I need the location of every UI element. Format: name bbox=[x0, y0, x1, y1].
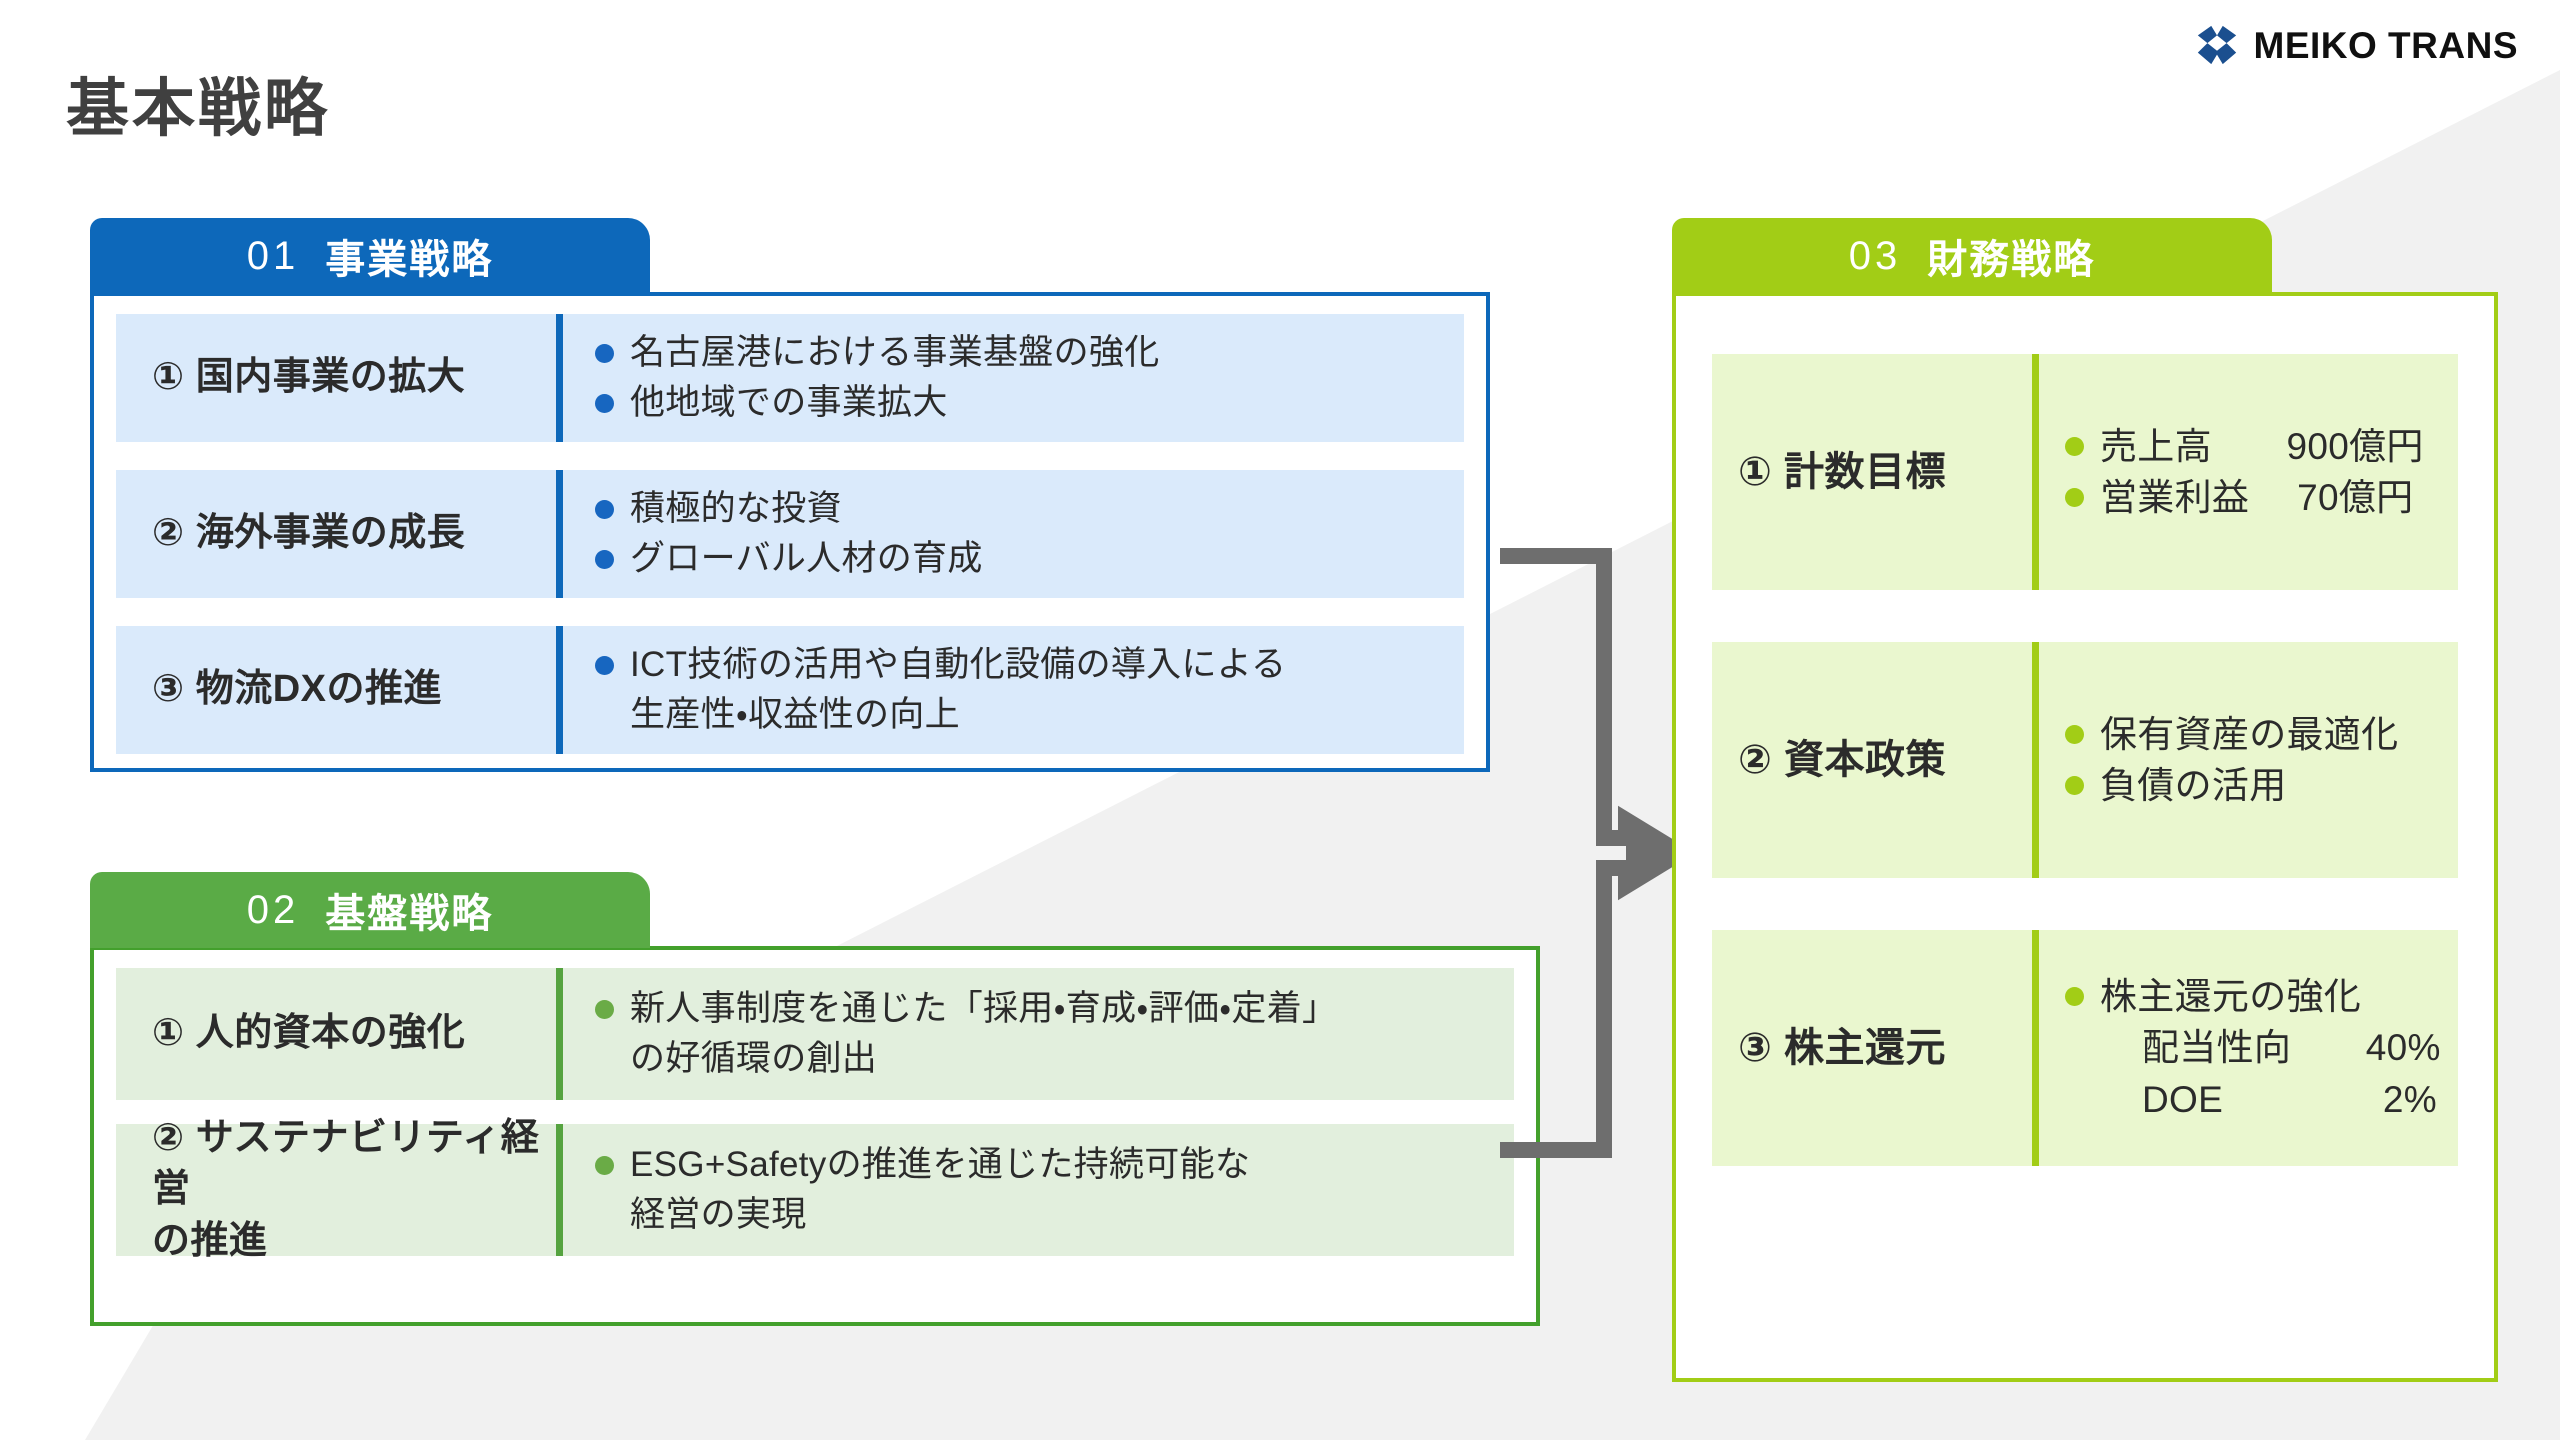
bullet-dot-icon bbox=[595, 550, 614, 569]
slide-canvas: MEIKO TRANS 基本戦略 01 事業戦略 ① 国内事業の拡大 名古屋港に… bbox=[0, 0, 2560, 1440]
panel-body-business-strategy: ① 国内事業の拡大 名古屋港における事業基盤の強化 他地域での事業拡大 bbox=[90, 292, 1490, 772]
strategy-row: ③ 株主還元 株主還元の強化 配当性向 40% D bbox=[1712, 930, 2458, 1166]
bullet-dot-icon bbox=[595, 394, 614, 413]
bullet-item: グローバル人材の育成 bbox=[595, 534, 1464, 584]
bullet-text: 積極的な投資 bbox=[630, 484, 1464, 534]
row-spacer bbox=[116, 442, 1464, 470]
strategy-row-bullets: 積極的な投資 グローバル人材の育成 bbox=[563, 470, 1464, 598]
bullet-dot-icon bbox=[595, 1156, 614, 1175]
bullet-dot-icon bbox=[2065, 987, 2084, 1006]
strategy-row-bullets: 保有資産の最適化 負債の活用 bbox=[2039, 642, 2458, 878]
panel-business-strategy: 01 事業戦略 ① 国内事業の拡大 名古屋港における事業基盤の強化 他地域で bbox=[90, 218, 1490, 772]
bullet-text: DOE 2% bbox=[2142, 1074, 2458, 1125]
row-spacer bbox=[1712, 878, 2458, 930]
strategy-row-bullets: 名古屋港における事業基盤の強化 他地域での事業拡大 bbox=[563, 314, 1464, 442]
bullet-dot-icon bbox=[595, 1000, 614, 1019]
bullet-item: 新人事制度を通じた「採用・育成・評価・定着」 の好循環の創出 bbox=[595, 984, 1514, 1083]
bullet-item: 営業利益 70億円 bbox=[2065, 472, 2458, 523]
bullet-dot-icon bbox=[2065, 725, 2084, 744]
bullet-text: 配当性向 40% bbox=[2142, 1022, 2458, 1073]
bullet-dot-icon bbox=[595, 344, 614, 363]
strategy-row: ① 計数目標 売上高 900億円 営業利益 70億円 bbox=[1712, 354, 2458, 590]
bullet-text: 他地域での事業拡大 bbox=[630, 378, 1464, 428]
strategy-row-title: ③ 物流DXの推進 bbox=[116, 626, 556, 754]
strategy-row-title: ② 資本政策 bbox=[1712, 642, 2032, 878]
strategy-to-finance-arrow bbox=[1500, 548, 1686, 1158]
row-divider bbox=[556, 1124, 563, 1256]
bullet-item: 売上高 900億円 bbox=[2065, 421, 2458, 472]
strategy-row-title: ① 計数目標 bbox=[1712, 354, 2032, 590]
bullet-dot-icon bbox=[2065, 488, 2084, 507]
row-divider bbox=[556, 314, 563, 442]
row-divider bbox=[556, 626, 563, 754]
panel-number: 01 bbox=[247, 234, 300, 279]
bullet-item: ESG+Safetyの推進を通じた持続可能な 経営の実現 bbox=[595, 1140, 1514, 1239]
row-divider bbox=[556, 968, 563, 1100]
bullet-item: DOE 2% bbox=[2065, 1074, 2458, 1125]
panel-name: 事業戦略 bbox=[325, 227, 493, 285]
row-divider bbox=[2032, 642, 2039, 878]
bullet-item: 名古屋港における事業基盤の強化 bbox=[595, 328, 1464, 378]
bullet-text: グローバル人材の育成 bbox=[630, 534, 1464, 584]
bullet-text: 売上高 900億円 bbox=[2100, 421, 2458, 472]
strategy-row-title: ② 海外事業の成長 bbox=[116, 470, 556, 598]
panel-name: 財務戦略 bbox=[1927, 227, 2095, 285]
bullet-text: 営業利益 70億円 bbox=[2100, 472, 2458, 523]
panel-header-business-strategy: 01 事業戦略 bbox=[90, 218, 650, 294]
bullet-text: 新人事制度を通じた「採用・育成・評価・定着」 の好循環の創出 bbox=[630, 984, 1514, 1083]
strategy-row-title: ① 人的資本の強化 bbox=[116, 968, 556, 1100]
row-spacer bbox=[116, 598, 1464, 626]
strategy-row-bullets: 売上高 900億円 営業利益 70億円 bbox=[2039, 354, 2458, 590]
strategy-row-bullets: ICT技術の活用や自動化設備の導入による 生産性・収益性の向上 bbox=[563, 626, 1464, 754]
panel-body-foundation-strategy: ① 人的資本の強化 新人事制度を通じた「採用・育成・評価・定着」 の好循環の創出… bbox=[90, 946, 1540, 1326]
bullet-item: 積極的な投資 bbox=[595, 484, 1464, 534]
brand-logo: MEIKO TRANS bbox=[2194, 22, 2519, 68]
bullet-text: 名古屋港における事業基盤の強化 bbox=[630, 328, 1464, 378]
panel-number: 03 bbox=[1849, 234, 1902, 279]
panel-header-financial-strategy: 03 財務戦略 bbox=[1672, 218, 2272, 294]
bullet-text: 株主還元の強化 bbox=[2100, 971, 2458, 1022]
bullet-dot-icon bbox=[595, 656, 614, 675]
bullet-dot-icon bbox=[595, 500, 614, 519]
strategy-row-title: ② サステナビリティ経営 の推進 bbox=[116, 1124, 556, 1256]
meiko-angular-mark-icon bbox=[2194, 22, 2240, 68]
bullet-text: 保有資産の最適化 bbox=[2100, 709, 2458, 760]
row-divider bbox=[556, 470, 563, 598]
strategy-row-bullets: 新人事制度を通じた「採用・育成・評価・定着」 の好循環の創出 bbox=[563, 968, 1514, 1100]
strategy-row-bullets: 株主還元の強化 配当性向 40% DOE 2% bbox=[2039, 930, 2458, 1166]
panel-name: 基盤戦略 bbox=[325, 881, 493, 939]
bullet-item: 配当性向 40% bbox=[2065, 1022, 2458, 1073]
bullet-item: 他地域での事業拡大 bbox=[595, 378, 1464, 428]
strategy-row: ① 国内事業の拡大 名古屋港における事業基盤の強化 他地域での事業拡大 bbox=[116, 314, 1464, 442]
bullet-text: 負債の活用 bbox=[2100, 760, 2458, 811]
row-divider bbox=[2032, 354, 2039, 590]
strategy-row: ① 人的資本の強化 新人事制度を通じた「採用・育成・評価・定着」 の好循環の創出 bbox=[116, 968, 1514, 1100]
panel-header-foundation-strategy: 02 基盤戦略 bbox=[90, 872, 650, 948]
logo-text: MEIKO TRANS bbox=[2254, 27, 2519, 64]
bullet-dot-icon bbox=[2065, 437, 2084, 456]
bullet-item: 保有資産の最適化 bbox=[2065, 709, 2458, 760]
row-divider bbox=[2032, 930, 2039, 1166]
strategy-row-title: ① 国内事業の拡大 bbox=[116, 314, 556, 442]
panel-foundation-strategy: 02 基盤戦略 ① 人的資本の強化 新人事制度を通じた「採用・育成・評価・定着」… bbox=[90, 872, 1540, 1326]
panel-body-financial-strategy: ① 計数目標 売上高 900億円 営業利益 70億円 bbox=[1672, 292, 2498, 1382]
strategy-row-title: ③ 株主還元 bbox=[1712, 930, 2032, 1166]
bullet-item: ICT技術の活用や自動化設備の導入による 生産性・収益性の向上 bbox=[595, 640, 1464, 739]
page-title: 基本戦略 bbox=[66, 78, 330, 141]
row-spacer bbox=[1712, 590, 2458, 642]
panel-number: 02 bbox=[247, 888, 300, 933]
bullet-dot-icon bbox=[2065, 776, 2084, 795]
strategy-row: ② 資本政策 保有資産の最適化 負債の活用 bbox=[1712, 642, 2458, 878]
bullet-text: ESG+Safetyの推進を通じた持続可能な 経営の実現 bbox=[630, 1140, 1514, 1239]
bullet-item: 負債の活用 bbox=[2065, 760, 2458, 811]
strategy-row-bullets: ESG+Safetyの推進を通じた持続可能な 経営の実現 bbox=[563, 1124, 1514, 1256]
strategy-row: ③ 物流DXの推進 ICT技術の活用や自動化設備の導入による 生産性・収益性の向… bbox=[116, 626, 1464, 754]
strategy-row: ② サステナビリティ経営 の推進 ESG+Safetyの推進を通じた持続可能な … bbox=[116, 1124, 1514, 1256]
panel-financial-strategy: 03 財務戦略 ① 計数目標 売上高 900億円 営業利益 70億円 bbox=[1672, 218, 2498, 1382]
bullet-text: ICT技術の活用や自動化設備の導入による 生産性・収益性の向上 bbox=[630, 640, 1464, 739]
strategy-row: ② 海外事業の成長 積極的な投資 グローバル人材の育成 bbox=[116, 470, 1464, 598]
bullet-item: 株主還元の強化 bbox=[2065, 971, 2458, 1022]
